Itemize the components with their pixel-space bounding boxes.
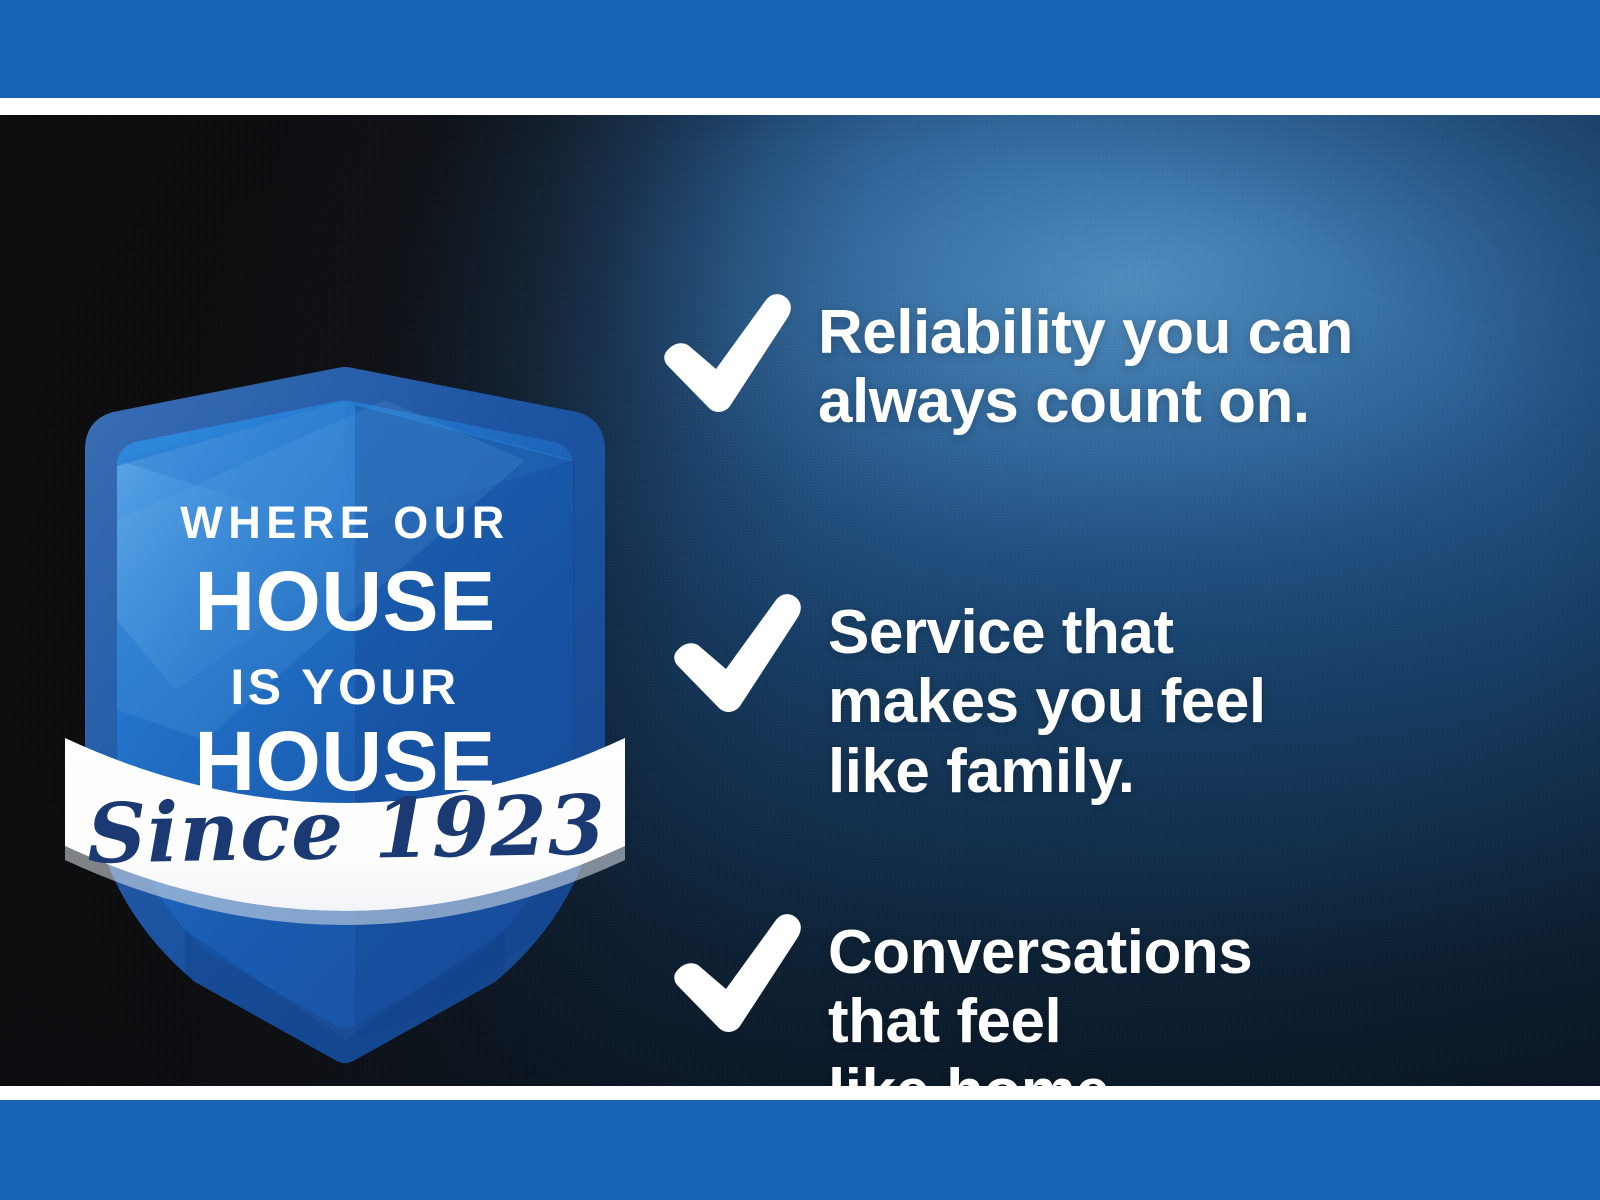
- shield-line-2: HOUSE: [194, 554, 495, 648]
- benefit-text-3: Conversations that feel like home.: [828, 910, 1252, 1086]
- checkmark-icon: [660, 290, 792, 412]
- promo-graphic: WHERE OUR HOUSE IS YOUR HOUSE Since 1923: [0, 0, 1600, 1200]
- checkmark-icon: [670, 590, 802, 712]
- benefit-item-2: Service that makes you feel like family.: [670, 590, 1266, 806]
- top-brand-bar: [0, 0, 1600, 98]
- benefit-item-1: Reliability you can always count on.: [660, 290, 1353, 437]
- benefit-text-1: Reliability you can always count on.: [818, 290, 1353, 437]
- benefit-text-2: Service that makes you feel like family.: [828, 590, 1266, 806]
- shield-emblem: WHERE OUR HOUSE IS YOUR HOUSE Since 1923: [55, 270, 635, 1070]
- shield-line-1: WHERE OUR: [180, 497, 510, 548]
- banner-script-text: Since 1923: [86, 777, 606, 882]
- checkmark-icon: [670, 910, 802, 1032]
- benefits-list: Reliability you can always count on. Ser…: [660, 290, 1540, 1086]
- bottom-brand-bar: [0, 1100, 1600, 1200]
- bottom-white-divider: [0, 1086, 1600, 1100]
- main-stage: WHERE OUR HOUSE IS YOUR HOUSE Since 1923: [0, 115, 1600, 1086]
- benefit-item-3: Conversations that feel like home.: [670, 910, 1252, 1086]
- top-white-divider: [0, 98, 1600, 115]
- shield-line-3: IS YOUR: [230, 659, 459, 715]
